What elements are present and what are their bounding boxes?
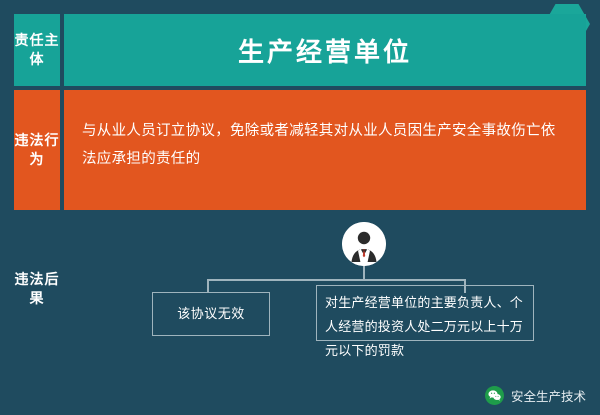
footer-text: 安全生产技术: [511, 386, 586, 405]
connector-horizontal: [207, 279, 466, 281]
row-label-illegal-act-text: 违法行为: [14, 131, 60, 169]
row-label-responsible-subject-text: 责任主体: [14, 31, 60, 69]
row-label-illegal-consequence-text: 违法后果: [14, 270, 60, 308]
connector-vertical-left: [207, 279, 209, 293]
illegal-act-description: 与从业人员订立协议，免除或者减轻其对从业人员因生产安全事故伤亡依法应承担的责任的: [64, 90, 586, 210]
row-label-illegal-act: 违法行为: [14, 90, 60, 210]
slide-canvas: 103 责任主体 生产经营单位 违法行为 与从业人员订立协议，免除或者减轻其对从…: [0, 0, 600, 415]
row-label-responsible-subject: 责任主体: [14, 14, 60, 86]
consequence-box-agreement-invalid: 该协议无效: [152, 292, 270, 336]
title-production-business-unit: 生产经营单位: [64, 14, 586, 86]
wechat-icon: [485, 386, 504, 405]
connector-vertical-main: [363, 266, 365, 280]
footer-watermark: 安全生产技术: [485, 386, 586, 405]
row-label-illegal-consequence: 违法后果: [14, 214, 60, 364]
consequence-box-fine: 对生产经营单位的主要负责人、个人经营的投资人处二万元以上十万元以下的罚款: [316, 285, 534, 341]
person-in-suit-icon: [342, 222, 386, 266]
